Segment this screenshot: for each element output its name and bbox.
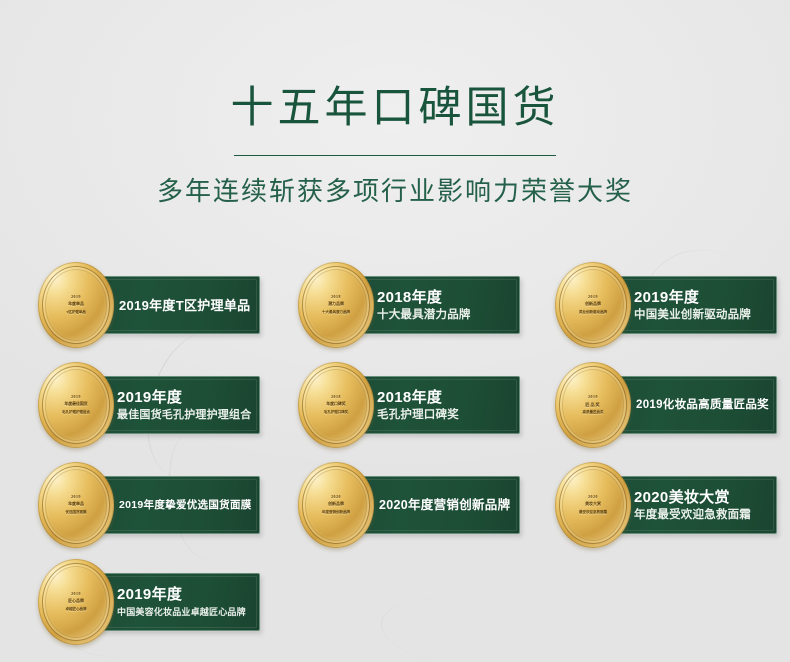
medal-subtitle: 年度营销创新品牌 xyxy=(300,511,372,515)
medal-text: 2019匠心品牌卓越匠心品牌 xyxy=(38,593,114,612)
award-item[interactable]: 2020年度营销创新品牌2020创新品牌年度营销创新品牌 xyxy=(280,462,520,548)
medal-year: 2019 xyxy=(38,296,114,300)
award-item[interactable]: 2018年度十大最具潜力品牌2018潜力品牌十大最具潜力品牌 xyxy=(280,262,520,348)
medal-year: 2019 xyxy=(38,396,114,400)
medal-title: 年度最佳国货 xyxy=(37,403,115,407)
award-banner-subtitle: 毛孔护理口碑奖 xyxy=(377,407,511,423)
award-item[interactable]: 2019化妆品高质量匠品奖2019匠品奖高质量匠品奖 xyxy=(537,362,777,448)
medal-title: 年度单品 xyxy=(37,503,115,507)
page-title: 十五年口碑国货 xyxy=(0,0,790,133)
medal-text: 2020创新品牌年度营销创新品牌 xyxy=(298,496,374,515)
award-item[interactable]: 2019年度T区护理单品2019年度单品T区护理单品 xyxy=(20,262,260,348)
award-banner-title: 2019化妆品高质量匠品奖 xyxy=(636,396,768,415)
award-medal-icon: 2020美妆大赏最受欢迎急救面霜 xyxy=(555,462,631,548)
medal-title: 创新品牌 xyxy=(554,303,632,307)
award-banner-title: 2019年度 xyxy=(117,388,251,407)
award-medal-icon: 2018年度口碑奖毛孔护理口碑奖 xyxy=(298,362,374,448)
medal-subtitle: 卓越匠心品牌 xyxy=(40,608,112,612)
award-medal-icon: 2019年度最佳国货毛孔护理护理组合 xyxy=(38,362,114,448)
award-banner-subtitle: 中国美业创新驱动品牌 xyxy=(634,307,768,323)
award-item[interactable]: 2019年度最佳国货毛孔护理护理组合2019年度最佳国货毛孔护理护理组合 xyxy=(20,362,260,448)
award-item[interactable]: 2020美妆大赏年度最受欢迎急救面霜2020美妆大赏最受欢迎急救面霜 xyxy=(537,462,777,548)
medal-text: 2019年度最佳国货毛孔护理护理组合 xyxy=(38,396,114,414)
award-medal-icon: 2019匠品奖高质量匠品奖 xyxy=(555,362,631,448)
award-banner-subtitle: 十大最具潜力品牌 xyxy=(377,307,511,323)
medal-subtitle: 美业创新驱动品牌 xyxy=(557,311,629,315)
award-medal-icon: 2019创新品牌美业创新驱动品牌 xyxy=(555,262,631,348)
award-item[interactable]: 2019年度中国美业创新驱动品牌2019创新品牌美业创新驱动品牌 xyxy=(537,262,777,348)
award-banner-subtitle: 最佳国货毛孔护理护理组合 xyxy=(117,407,251,423)
award-item[interactable]: 2019年度中国美容化妆品业卓越匠心品牌2019匠心品牌卓越匠心品牌 xyxy=(20,559,260,645)
medal-text: 2019年度单品优选国货面膜 xyxy=(38,496,114,515)
award-banner-title: 2018年度 xyxy=(377,288,511,307)
award-banner-title: 2020美妆大赏 xyxy=(634,488,768,507)
medal-year: 2019 xyxy=(38,496,114,500)
medal-text: 2018年度口碑奖毛孔护理口碑奖 xyxy=(298,396,374,414)
page-header: 十五年口碑国货 多年连续斩获多项行业影响力荣誉大奖 xyxy=(0,0,790,208)
award-banner-title: 2018年度 xyxy=(377,388,511,407)
award-banner-title: 2019年度T区护理单品 xyxy=(119,296,251,315)
medal-text: 2019年度单品T区护理单品 xyxy=(38,296,114,315)
award-medal-icon: 2019年度单品优选国货面膜 xyxy=(38,462,114,548)
medal-text: 2019创新品牌美业创新驱动品牌 xyxy=(555,296,631,315)
medal-title: 美妆大赏 xyxy=(554,503,632,507)
medal-year: 2018 xyxy=(298,396,374,400)
award-banner-title: 2020年度营销创新品牌 xyxy=(379,496,511,515)
award-banner-subtitle: 年度最受欢迎急救面霜 xyxy=(634,507,768,523)
medal-text: 2019匠品奖高质量匠品奖 xyxy=(555,396,631,415)
medal-year: 2019 xyxy=(555,396,631,400)
medal-year: 2019 xyxy=(38,593,114,597)
award-banner-title: 2019年度 xyxy=(117,585,251,604)
award-banner-title: 2019年度挚爱优选国货面膜 xyxy=(119,496,251,515)
award-item[interactable]: 2018年度毛孔护理口碑奖2018年度口碑奖毛孔护理口碑奖 xyxy=(280,362,520,448)
awards-grid: 2019年度T区护理单品2019年度单品T区护理单品2018年度十大最具潜力品牌… xyxy=(0,262,790,662)
medal-title: 潜力品牌 xyxy=(297,303,375,307)
medal-title: 创新品牌 xyxy=(297,503,375,507)
medal-title: 年度单品 xyxy=(37,303,115,307)
medal-text: 2020美妆大赏最受欢迎急救面霜 xyxy=(555,496,631,515)
medal-year: 2020 xyxy=(298,496,374,500)
medal-subtitle: T区护理单品 xyxy=(40,311,112,315)
award-medal-icon: 2018潜力品牌十大最具潜力品牌 xyxy=(298,262,374,348)
medal-title: 年度口碑奖 xyxy=(297,403,375,407)
award-medal-icon: 2019年度单品T区护理单品 xyxy=(38,262,114,348)
award-item[interactable]: 2019年度挚爱优选国货面膜2019年度单品优选国货面膜 xyxy=(20,462,260,548)
medal-subtitle: 十大最具潜力品牌 xyxy=(300,311,372,315)
medal-year: 2020 xyxy=(555,496,631,500)
medal-subtitle: 高质量匠品奖 xyxy=(557,411,629,415)
medal-year: 2018 xyxy=(298,296,374,300)
award-medal-icon: 2020创新品牌年度营销创新品牌 xyxy=(298,462,374,548)
medal-year: 2019 xyxy=(555,296,631,300)
medal-subtitle: 毛孔护理口碑奖 xyxy=(300,411,372,415)
medal-title: 匠品奖 xyxy=(554,403,632,407)
award-banner-subtitle: 中国美容化妆品业卓越匠心品牌 xyxy=(117,604,251,620)
page-subtitle: 多年连续斩获多项行业影响力荣誉大奖 xyxy=(0,156,790,207)
medal-text: 2018潜力品牌十大最具潜力品牌 xyxy=(298,296,374,315)
medal-subtitle: 优选国货面膜 xyxy=(40,511,112,515)
award-banner-title: 2019年度 xyxy=(634,288,768,307)
awards-page: 十五年口碑国货 多年连续斩获多项行业影响力荣誉大奖 2019年度T区护理单品20… xyxy=(0,0,790,662)
medal-title: 匠心品牌 xyxy=(37,600,115,604)
medal-subtitle: 毛孔护理护理组合 xyxy=(40,411,112,415)
medal-subtitle: 最受欢迎急救面霜 xyxy=(557,511,629,515)
award-medal-icon: 2019匠心品牌卓越匠心品牌 xyxy=(38,559,114,645)
